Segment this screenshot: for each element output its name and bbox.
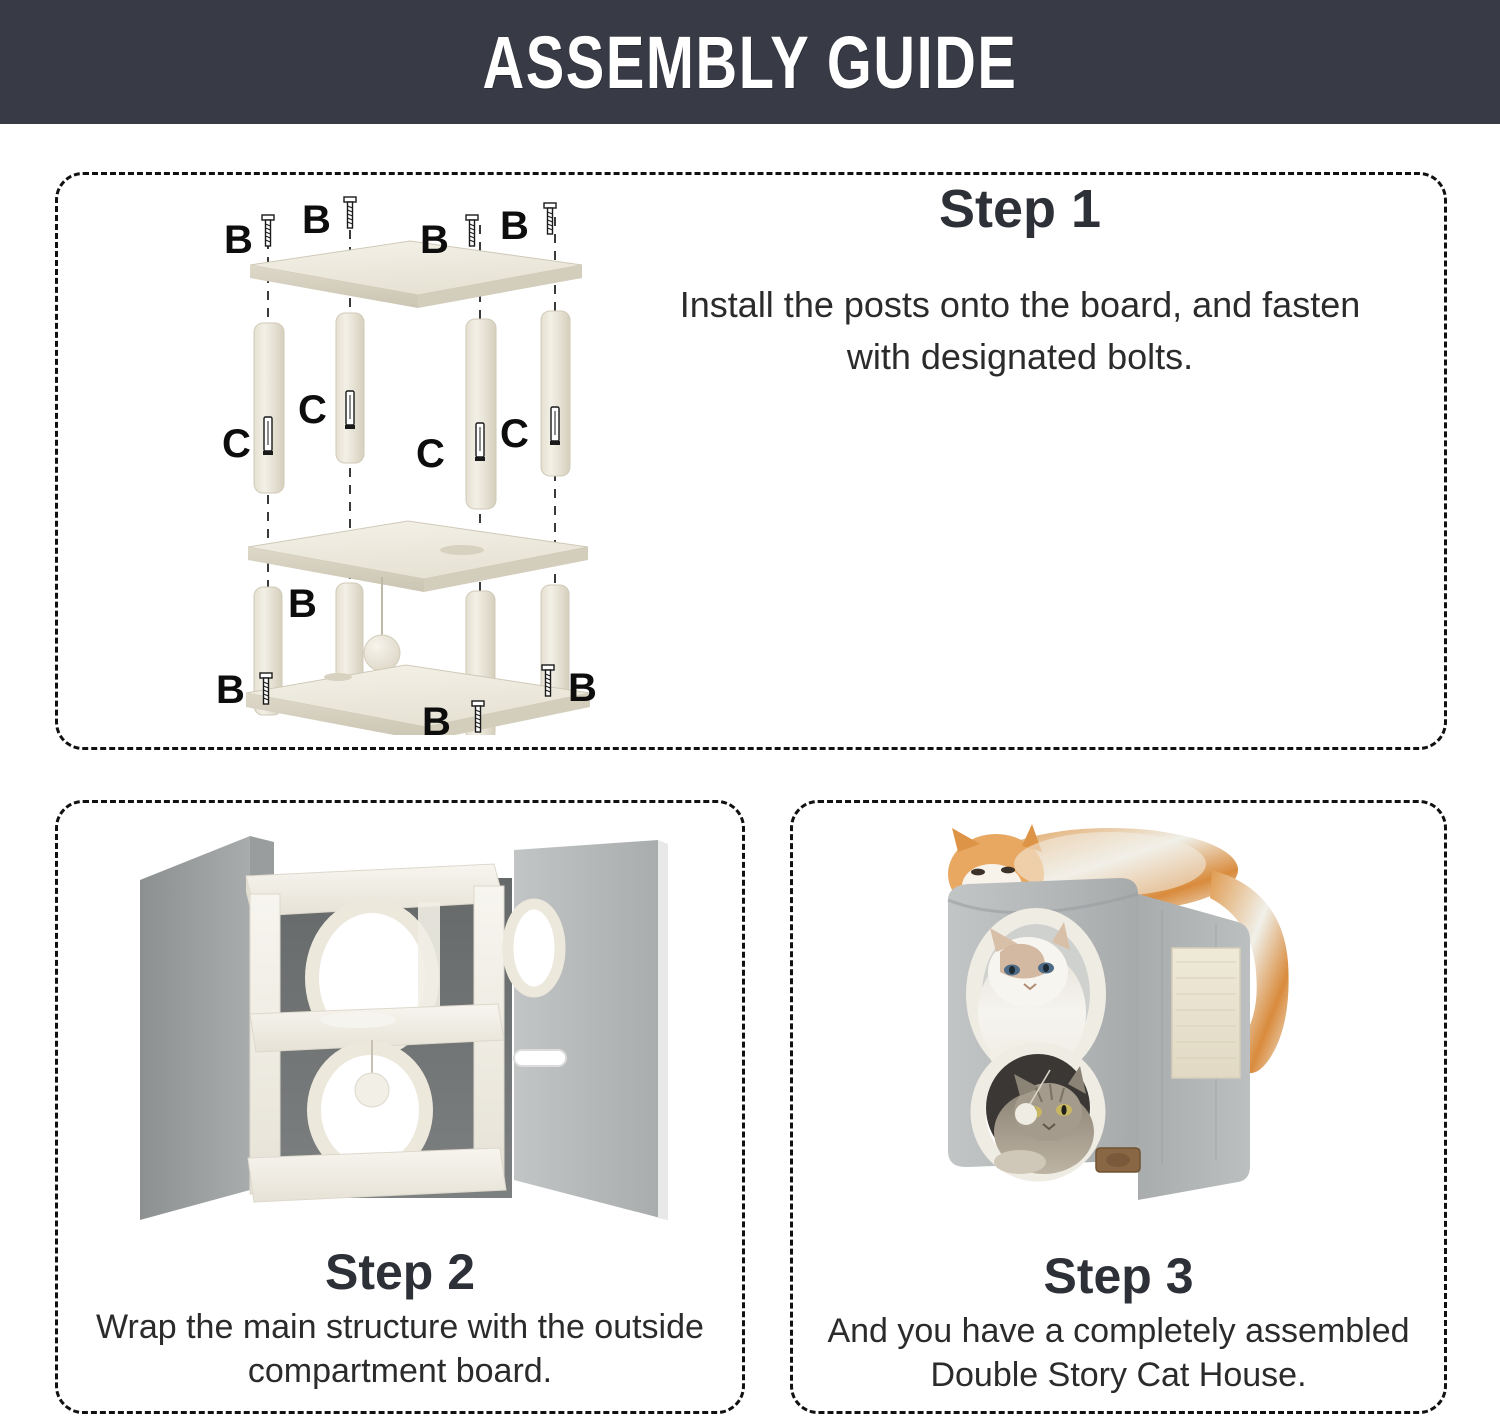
step-3-illustration xyxy=(900,812,1320,1232)
step-3-text-block: Step 3 And you have a completely assembl… xyxy=(793,1250,1444,1397)
step-3-heading: Step 3 xyxy=(793,1250,1444,1303)
step-1-body: Install the posts onto the board, and fa… xyxy=(660,279,1380,381)
part-label-callouts: B B B B C C C C B B B B xyxy=(210,195,610,735)
header-bar: ASSEMBLY GUIDE xyxy=(0,0,1500,124)
step-2-heading: Step 2 xyxy=(58,1246,742,1299)
label-B: B xyxy=(288,582,317,626)
right-wrap-panel xyxy=(514,840,668,1220)
page-title: ASSEMBLY GUIDE xyxy=(482,20,1017,105)
label-B: B xyxy=(422,700,451,735)
label-C: C xyxy=(500,412,529,456)
brand-tag xyxy=(1096,1148,1140,1172)
label-B: B xyxy=(224,218,253,262)
label-C: C xyxy=(416,432,445,476)
label-B: B xyxy=(302,198,331,242)
label-B: B xyxy=(420,218,449,262)
side-porthole xyxy=(508,904,560,992)
side-slot xyxy=(514,1050,566,1066)
label-B: B xyxy=(568,666,597,710)
step-1-heading: Step 1 xyxy=(660,180,1380,239)
label-B: B xyxy=(500,204,529,248)
label-C: C xyxy=(298,388,327,432)
sisal-scratching-pad xyxy=(1172,948,1240,1078)
step-2-body: Wrap the main structure with the outside… xyxy=(85,1305,714,1393)
step-2-illustration xyxy=(122,828,682,1228)
label-C: C xyxy=(222,422,251,466)
step-1-text-block: Step 1 Install the posts onto the board,… xyxy=(660,180,1380,382)
step-2-text-block: Step 2 Wrap the main structure with the … xyxy=(58,1246,742,1393)
label-B: B xyxy=(216,668,245,712)
step-3-body: And you have a completely assembled Doub… xyxy=(819,1309,1418,1397)
